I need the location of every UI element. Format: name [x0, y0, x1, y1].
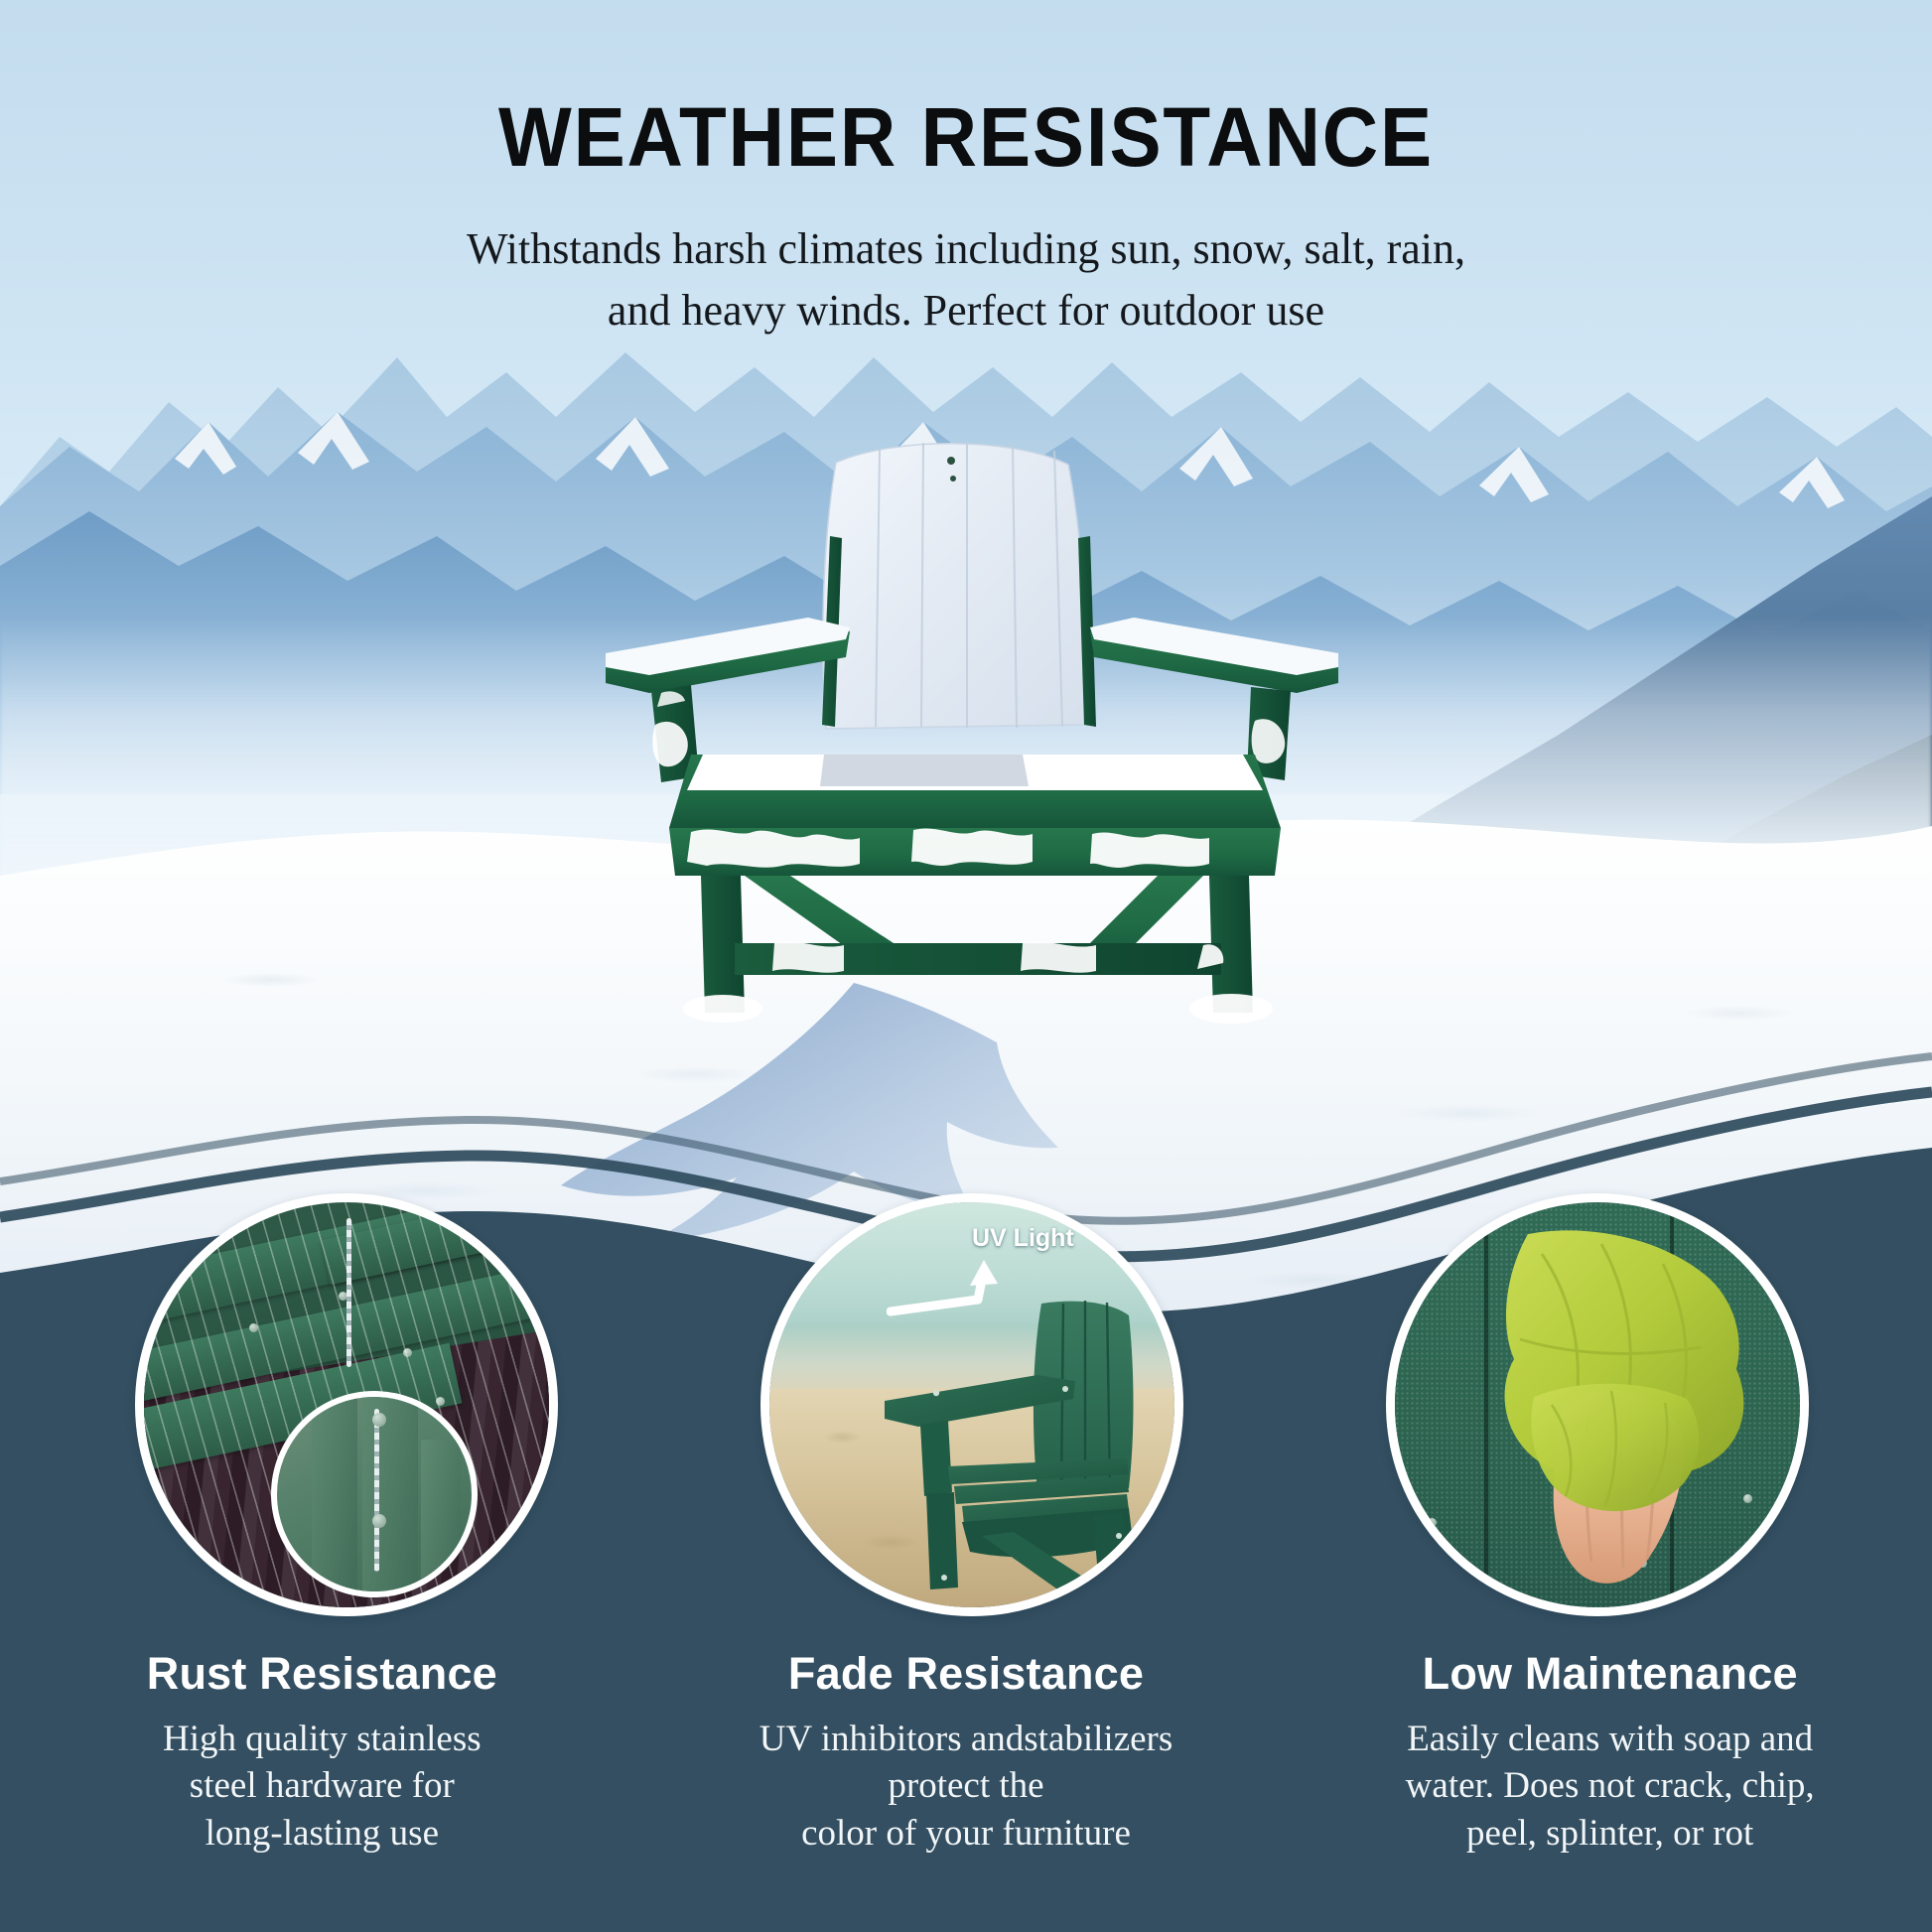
feature-desc-line: color of your furniture: [801, 1813, 1131, 1854]
feature-fade-resistance: Fade Resistance UV inhibitors andstabili…: [644, 1648, 1289, 1857]
beach-chair-graphic: [879, 1298, 1176, 1595]
feature-image-low-maintenance: [1386, 1193, 1809, 1616]
feature-desc-line: steel hardware for: [190, 1765, 455, 1806]
subtitle-line-1: Withstands harsh climates including sun,…: [467, 224, 1465, 273]
feature-text-row: Rust Resistance High quality stainless s…: [0, 1648, 1932, 1857]
feature-low-maintenance: Low Maintenance Easily cleans with soap …: [1288, 1648, 1932, 1857]
feature-desc-line: water. Does not crack, chip,: [1406, 1765, 1815, 1806]
subtitle-line-2: and heavy winds. Perfect for outdoor use: [608, 286, 1324, 335]
feature-title-low-maintenance: Low Maintenance: [1321, 1648, 1898, 1700]
feature-title-rust-resistance: Rust Resistance: [34, 1648, 611, 1700]
feature-desc-line: protect the: [888, 1765, 1043, 1806]
feature-desc-line: UV inhibitors andstabilizers: [759, 1719, 1173, 1759]
infographic-canvas: UV Light: [0, 0, 1932, 1932]
feature-desc-line: Easily cleans with soap and: [1407, 1719, 1813, 1759]
page-title: WEATHER RESISTANCE: [68, 0, 1864, 179]
feature-desc-low-maintenance: Easily cleans with soap and water. Does …: [1321, 1700, 1898, 1857]
feature-image-rust-resistance: [135, 1193, 558, 1616]
hand-with-cloth-graphic: [1417, 1220, 1784, 1589]
feature-desc-rust-resistance: High quality stainless steel hardware fo…: [34, 1700, 611, 1857]
feature-image-fade-resistance: UV Light: [760, 1193, 1183, 1616]
feature-rust-resistance: Rust Resistance High quality stainless s…: [0, 1648, 644, 1857]
chain-detail-inset: [271, 1391, 478, 1597]
feature-title-fade-resistance: Fade Resistance: [678, 1648, 1255, 1700]
feature-desc-line: High quality stainless: [163, 1719, 482, 1759]
header-block: WEATHER RESISTANCE Withstands harsh clim…: [0, 0, 1932, 343]
page-subtitle: Withstands harsh climates including sun,…: [0, 179, 1932, 343]
uv-light-label: UV Light: [972, 1224, 1074, 1253]
feature-desc-line: peel, splinter, or rot: [1466, 1813, 1753, 1854]
feature-desc-fade-resistance: UV inhibitors andstabilizers protect the…: [678, 1700, 1255, 1857]
feature-desc-line: long-lasting use: [206, 1813, 439, 1854]
